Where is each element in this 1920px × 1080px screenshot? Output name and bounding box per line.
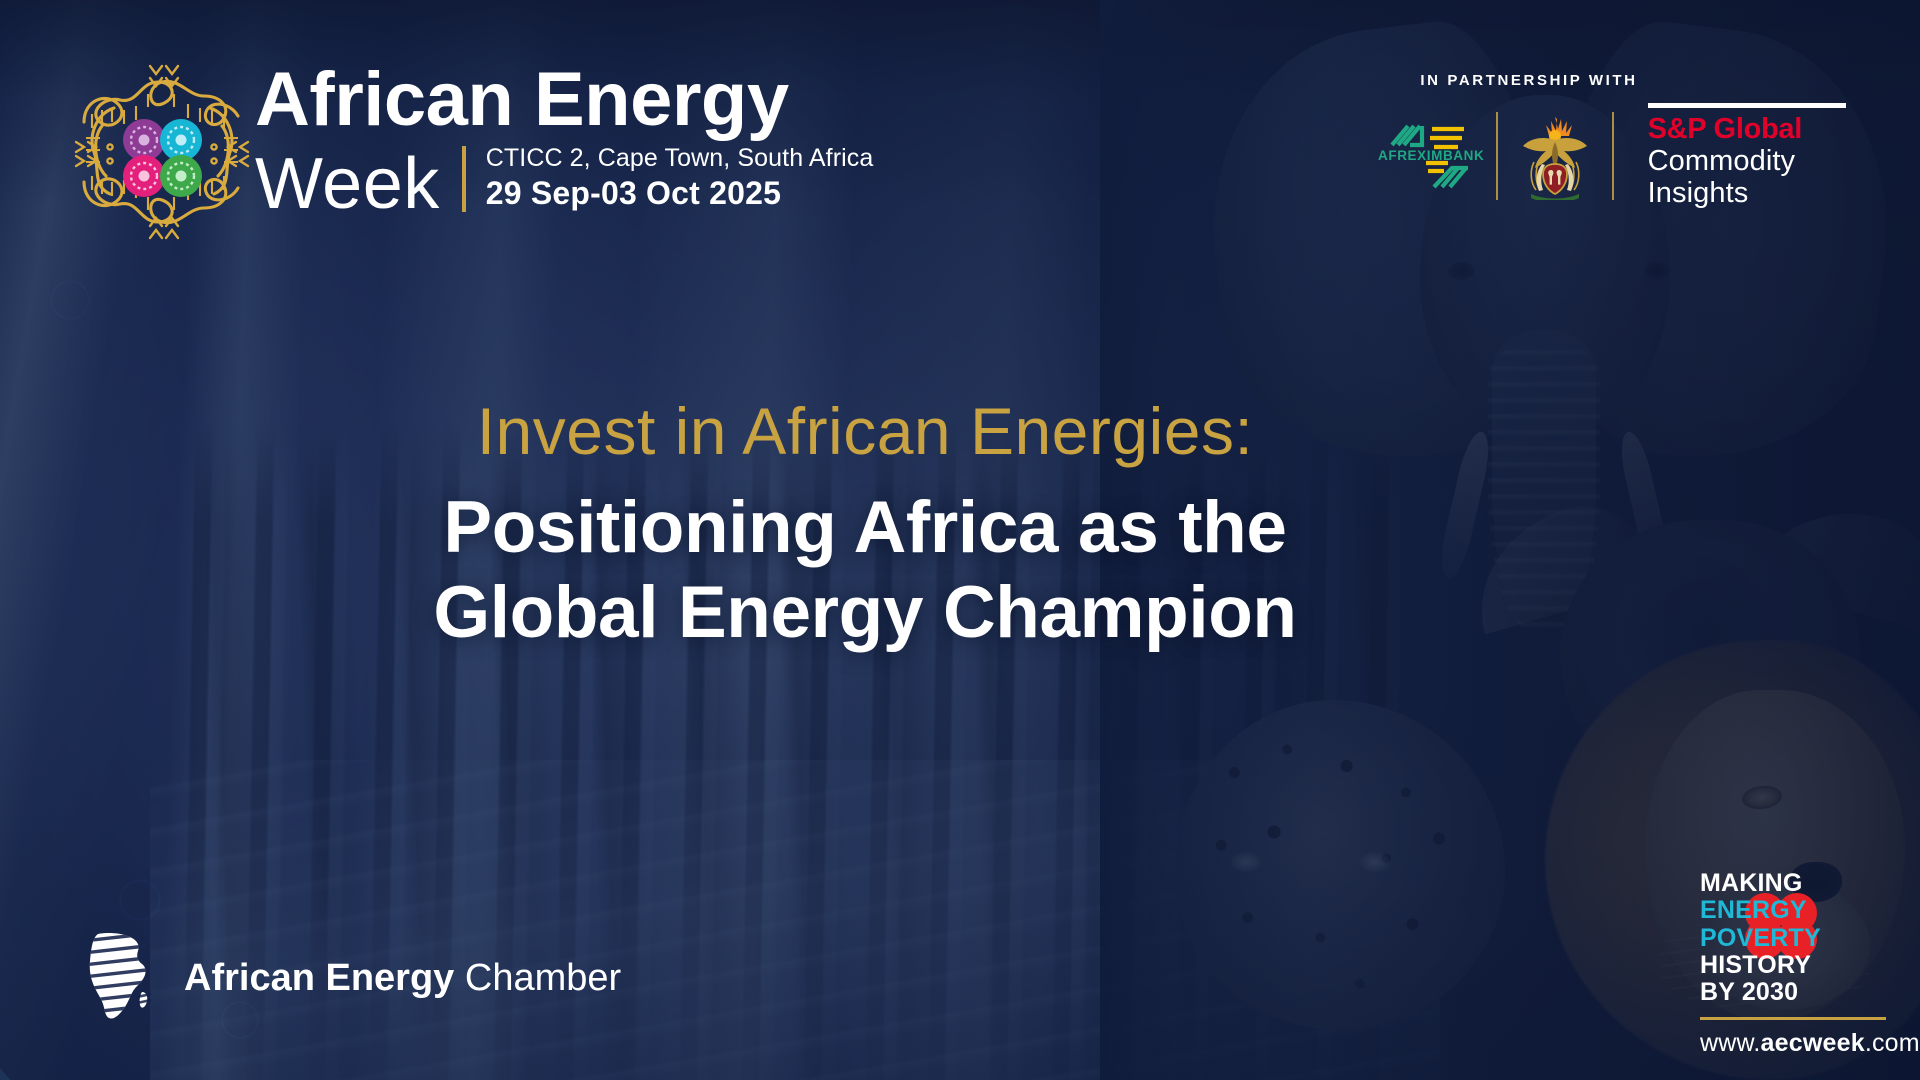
url-prefix: www.	[1700, 1029, 1761, 1057]
afreximbank-logo: AFREXIMBANK	[1378, 117, 1478, 195]
partner-divider-2	[1612, 112, 1614, 200]
campaign-rule	[1700, 1017, 1886, 1020]
campaign-line-making: MAKING	[1700, 870, 1890, 897]
sp-global-name: S&P Global	[1648, 115, 1878, 145]
event-name-line2: Week	[255, 150, 440, 218]
partner-divider-1	[1496, 112, 1498, 200]
campaign-line-history: HISTORY	[1700, 952, 1890, 979]
africa-map-icon	[80, 930, 158, 1026]
campaign-url[interactable]: www.aecweek.com	[1700, 1029, 1890, 1058]
sp-global-division: Commodity Insights	[1648, 145, 1878, 210]
campaign-badge: MAKING ENERGY POVERTY HISTORY BY 2030 ww…	[1700, 870, 1890, 1058]
event-wordmark: African Energy Week CTICC 2, Cape Town, …	[255, 62, 873, 218]
headline-kicker: Invest in African Energies:	[0, 398, 1920, 464]
partnership-label: IN PARTNERSHIP WITH	[1364, 72, 1694, 89]
headline-block: Invest in African Energies: Positioning …	[0, 398, 1920, 655]
headline-line1: Positioning Africa as the	[0, 486, 1920, 571]
sp-global-rule	[1648, 103, 1846, 108]
campaign-line-by2030: BY 2030	[1700, 979, 1890, 1006]
url-suffix: .com	[1865, 1029, 1920, 1057]
partnership-block: IN PARTNERSHIP WITH	[1378, 72, 1878, 210]
event-dates: 29 Sep-03 Oct 2025	[486, 175, 874, 212]
african-energy-chamber-logo: African Energy Chamber	[80, 930, 621, 1026]
headline-line2: Global Energy Champion	[0, 571, 1920, 656]
sp-global-logo: S&P Global Commodity Insights	[1648, 103, 1878, 210]
event-banner: African Energy Week CTICC 2, Cape Town, …	[0, 0, 1920, 1080]
campaign-line-energy: ENERGY	[1700, 897, 1890, 924]
campaign-line-poverty: POVERTY	[1700, 925, 1890, 952]
wordmark-divider	[462, 146, 466, 212]
afreximbank-mark-icon: AFREXIMBANK	[1378, 117, 1478, 195]
afreximbank-name: AFREXIMBANK	[1378, 148, 1478, 163]
south-africa-coat-of-arms-icon	[1516, 112, 1594, 200]
event-venue: CTICC 2, Cape Town, South Africa	[486, 144, 874, 173]
chamber-name-light: Chamber	[465, 957, 621, 999]
url-domain: aecweek	[1761, 1029, 1865, 1057]
aew-emblem-icon	[62, 52, 262, 252]
chamber-name-bold: African Energy	[184, 957, 454, 999]
event-name-line1: African Energy	[255, 62, 873, 138]
